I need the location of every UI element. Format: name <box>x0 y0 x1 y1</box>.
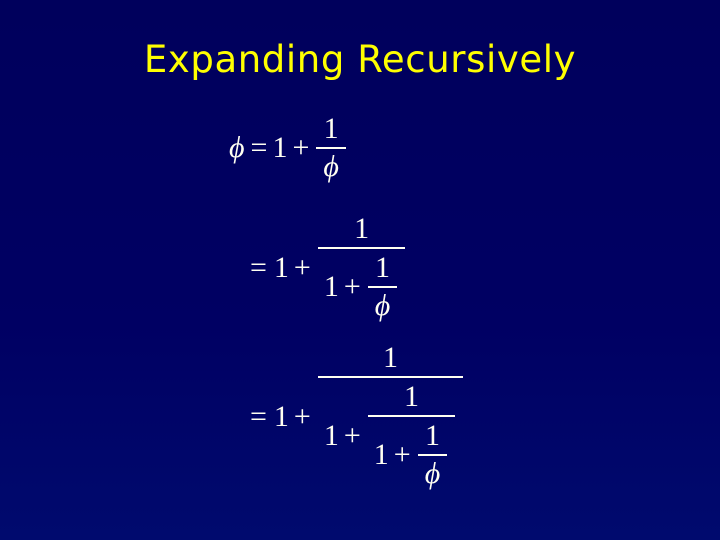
fraction-level-1: 1 1 + 1 1 + <box>318 342 463 492</box>
denominator: 1 + 1 ϕ <box>368 419 455 491</box>
denominator: ϕ <box>418 458 448 490</box>
equals-sign: = <box>250 253 267 283</box>
numerator-one: 1 <box>425 421 440 451</box>
numerator: 1 <box>368 381 455 413</box>
slide-canvas: Expanding Recursively ϕ = 1 + 1 ϕ = 1 + <box>0 0 720 540</box>
denominator-expression: 1 + 1 ϕ <box>374 420 449 490</box>
plus-sign: + <box>289 402 316 432</box>
integer-one: 1 <box>324 272 339 302</box>
denominator-expression: 1 + 1 ϕ <box>324 252 399 322</box>
equation-3: = 1 + 1 1 + 1 <box>250 342 465 492</box>
numerator-one: 1 <box>354 214 369 244</box>
fraction-bar <box>368 286 398 288</box>
denominator-expression: 1 + 1 1 + <box>324 381 457 491</box>
plus-sign: + <box>339 421 366 451</box>
equation-2: = 1 + 1 1 + 1 ϕ <box>250 213 407 323</box>
equation-3-lead: = 1 + <box>250 402 316 432</box>
numerator: 1 <box>418 420 448 452</box>
numerator-one: 1 <box>375 253 390 283</box>
fraction-bar <box>318 247 405 249</box>
integer-one: 1 <box>267 402 289 432</box>
fraction-level-1: 1 1 + 1 ϕ <box>318 213 405 323</box>
fraction-level-3: 1 ϕ <box>418 420 448 490</box>
numerator-one: 1 <box>404 382 419 412</box>
equation-1: ϕ = 1 + 1 ϕ <box>228 113 348 183</box>
denominator: 1 + 1 ϕ <box>318 251 405 323</box>
fraction-level-1: 1 ϕ <box>316 113 346 183</box>
fraction-bar <box>368 415 455 417</box>
page-title: Expanding Recursively <box>0 38 720 81</box>
integer-one: 1 <box>267 253 289 283</box>
numerator: 1 <box>316 113 346 145</box>
integer-one: 1 <box>272 133 287 163</box>
numerator: 1 <box>318 342 463 374</box>
numerator: 1 <box>368 252 398 284</box>
numerator-one: 1 <box>383 343 398 373</box>
denominator: ϕ <box>316 151 346 183</box>
fraction-level-2: 1 1 + 1 <box>368 381 455 491</box>
equation-2-lead: = 1 + <box>250 253 316 283</box>
denominator-phi: ϕ <box>374 291 392 321</box>
plus-sign: + <box>389 440 416 470</box>
denominator: ϕ <box>368 290 398 322</box>
plus-sign: + <box>287 133 314 163</box>
denominator-phi: ϕ <box>424 459 442 489</box>
fraction-bar <box>418 454 448 456</box>
fraction-level-2: 1 ϕ <box>368 252 398 322</box>
equals-sign: = <box>246 133 273 163</box>
fraction-bar <box>316 147 346 149</box>
numerator: 1 <box>318 213 405 245</box>
denominator-phi: ϕ <box>322 152 340 182</box>
plus-sign: + <box>289 253 316 283</box>
integer-one: 1 <box>374 440 389 470</box>
equation-1-lead: ϕ = 1 + <box>228 133 314 163</box>
denominator: 1 + 1 1 + <box>318 380 463 492</box>
equals-sign: = <box>250 402 267 432</box>
numerator-one: 1 <box>324 114 339 144</box>
plus-sign: + <box>339 272 366 302</box>
fraction-bar <box>318 376 463 378</box>
integer-one: 1 <box>324 421 339 451</box>
phi-symbol: ϕ <box>228 133 246 163</box>
